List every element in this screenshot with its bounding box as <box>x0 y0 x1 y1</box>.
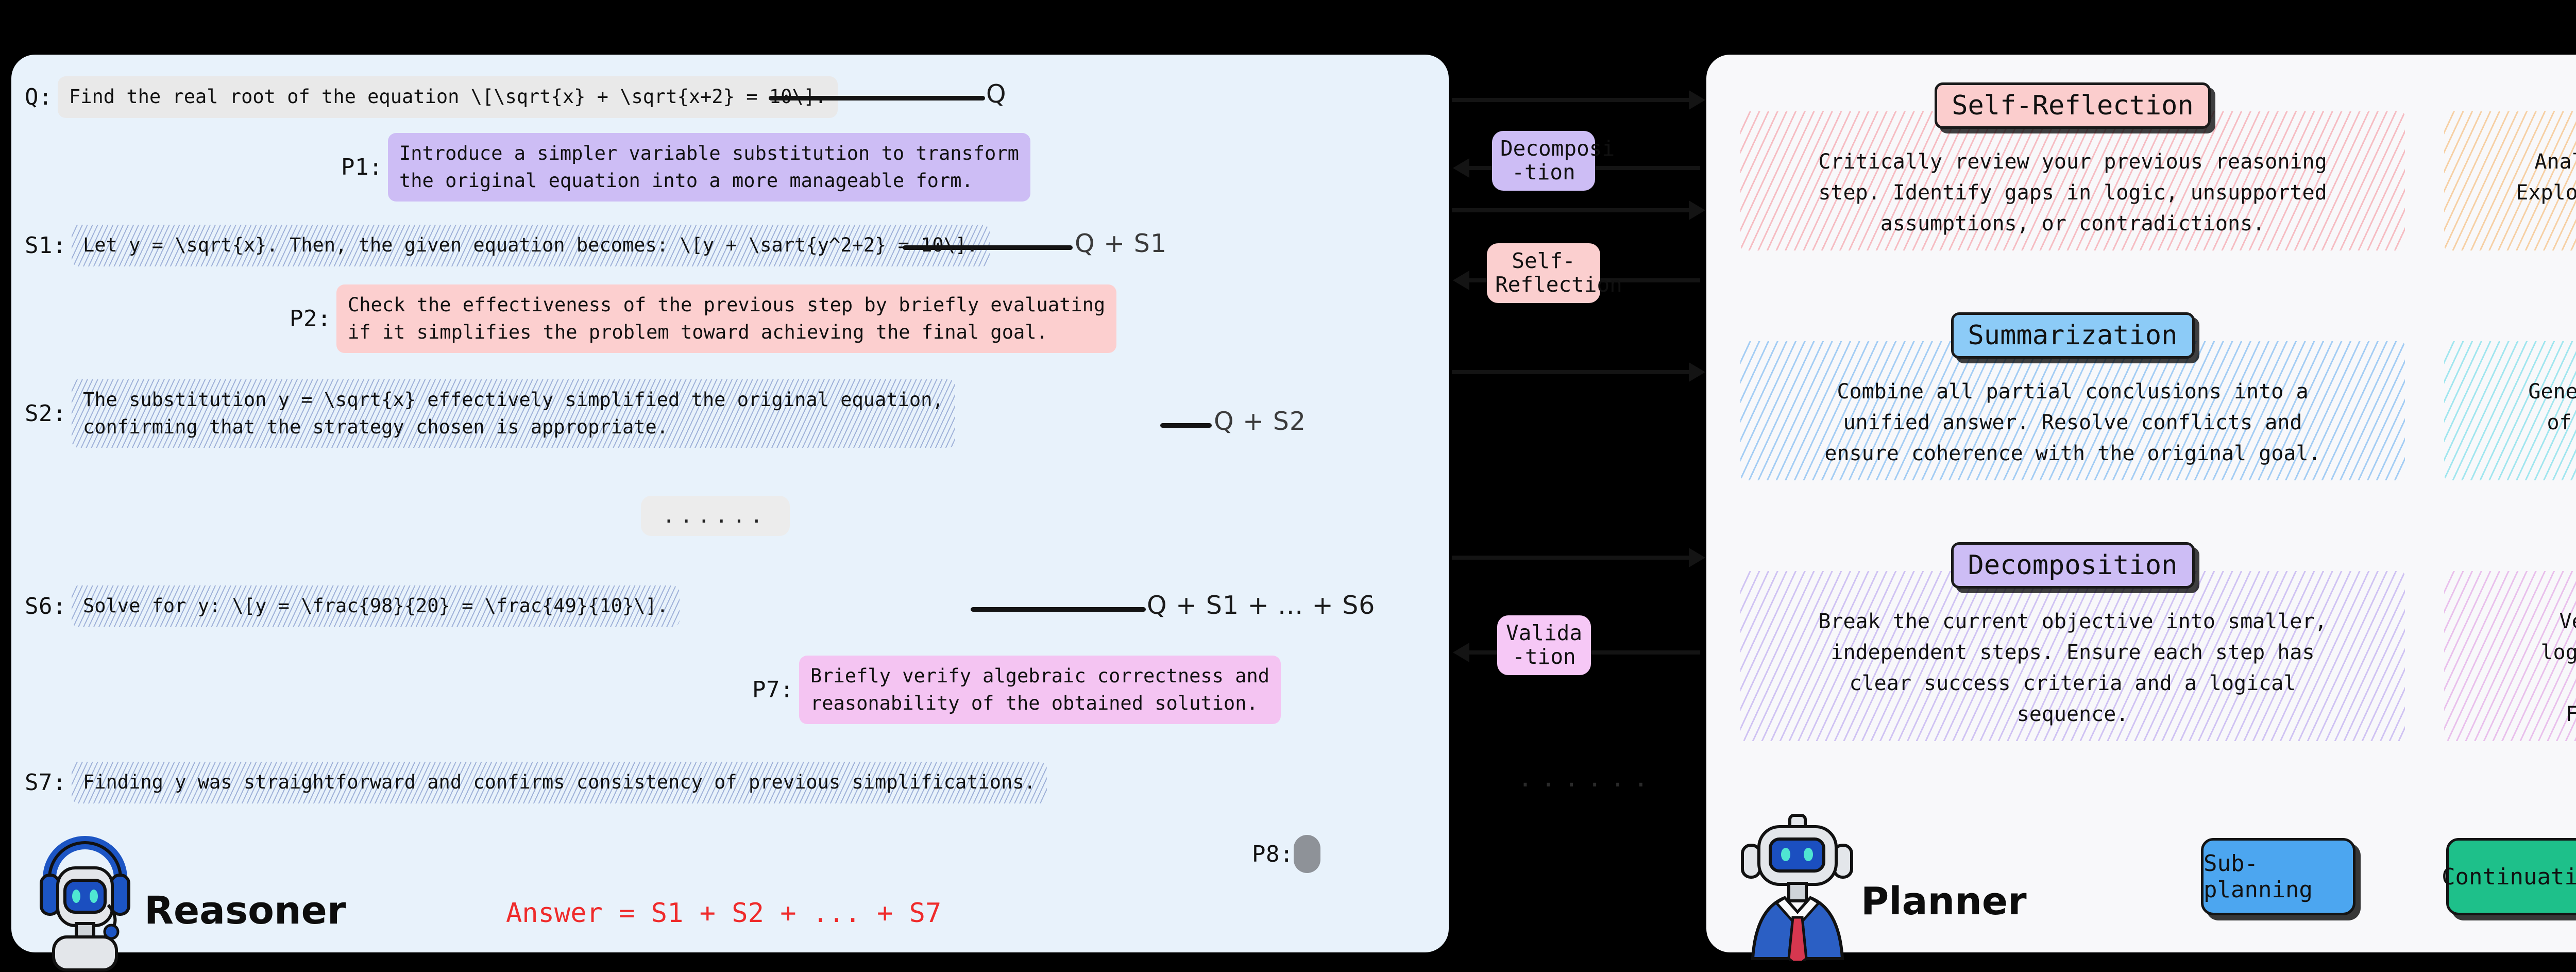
reasoner-step-q: Q: Find the real root of the equation \[… <box>25 76 838 118</box>
gutter-chip-decomposition: Decomposi -tion <box>1492 131 1595 191</box>
planner-agent-label: Planner <box>1861 879 2027 924</box>
step-tag-s7: S7: <box>25 769 66 796</box>
edge-line-s1 <box>903 245 1073 250</box>
reasoner-agent-label: Reasoner <box>144 889 346 933</box>
step-tag-p2: P2: <box>290 306 331 332</box>
step-text-s2: The substitution y = \sqrt{x} effectivel… <box>72 379 955 448</box>
action-button-sub-planning[interactable]: Sub-planning <box>2201 838 2355 915</box>
edge-label-s6: Q + S1 + ... + S6 <box>1147 591 1375 620</box>
planner-card-validation[interactable]: Validation Verify the current solution a… <box>2444 542 2576 741</box>
card-title-self-reflection: Self-Reflection <box>1935 82 2211 129</box>
step-text-q: Find the real root of the equation \[\sq… <box>58 76 838 118</box>
reasoner-answer-line: Answer = S1 + S2 + ... + S7 <box>506 898 941 929</box>
step-text-p7: Briefly verify algebraic correctness and… <box>799 656 1281 724</box>
arrow-s6-to-planner <box>1452 556 1690 560</box>
card-desc-priority: Generate the next step based on the rank… <box>2444 359 2576 480</box>
step-tag-s1: S1: <box>25 232 66 259</box>
reasoner-step-s1: S1: Let y = \sqrt{x}. Then, the given eq… <box>25 225 990 266</box>
edge-line-q <box>769 96 985 100</box>
planner-card-decomposition[interactable]: Decomposition Break the current objectiv… <box>1740 542 2405 741</box>
step-tag-p7: P7: <box>752 677 794 703</box>
card-title-decomposition: Decomposition <box>1951 542 2195 589</box>
reasoner-step-p2: P2: Check the effectiveness of the previ… <box>290 284 1116 353</box>
planner-card-self-reflection[interactable]: Self-Reflection Critically review your p… <box>1740 82 2405 250</box>
arrow-qs1-to-planner <box>1452 208 1690 212</box>
step-text-p1: Introduce a simpler variable substitutio… <box>388 133 1030 202</box>
planner-panel: Self-Reflection Critically review your p… <box>1706 55 2576 952</box>
step-tag-q: Q: <box>25 84 53 110</box>
edge-label-s1: Q + S1 <box>1075 229 1167 258</box>
step-tag-s6: S6: <box>25 593 66 619</box>
step-text-p2: Check the effectiveness of the previous … <box>336 284 1116 353</box>
reasoner-ellipsis: ...... <box>641 496 790 536</box>
edge-label-q: Q <box>986 79 1007 109</box>
action-button-continuation[interactable]: Continuation <box>2446 838 2576 915</box>
gutter-chip-validation: Valida -tion <box>1497 615 1591 675</box>
robot-suit-icon <box>1738 811 1857 961</box>
reasoner-step-p7: P7: Briefly verify algebraic correctness… <box>752 656 1281 724</box>
reasoner-step-s2: S2: The substitution y = \sqrt{x} effect… <box>25 379 955 448</box>
step-text-s6: Solve for y: \[y = \frac{98}{20} = \frac… <box>72 585 680 627</box>
robot-headset-icon <box>31 817 139 972</box>
step-tag-p8: P8: <box>1252 841 1294 867</box>
planner-card-summarization[interactable]: Summarization Combine all partial conclu… <box>1740 312 2405 480</box>
planner-card-deep-thinking[interactable]: Deep Thinking Analyze the current subtas… <box>2444 82 2576 250</box>
edge-line-s2 <box>1160 423 1212 428</box>
arrow-q-to-planner <box>1452 98 1690 102</box>
card-desc-summarization: Combine all partial conclusions into a u… <box>1740 359 2405 480</box>
step-text-s7: Finding y was straightforward and confir… <box>72 762 1047 803</box>
reasoner-step-s7: S7: Finding y was straightforward and co… <box>25 762 1047 803</box>
planner-card-priority[interactable]: Priority Generate the next step based on… <box>2444 312 2576 480</box>
reasoner-panel: Q: Find the real root of the equation \[… <box>11 55 1449 952</box>
edge-label-s2: Q + S2 <box>1214 407 1306 436</box>
gutter-chip-self-reflection: Self- Reflection <box>1487 243 1600 303</box>
reasoner-step-p1: P1: Introduce a simpler variable substit… <box>341 133 1030 202</box>
card-title-summarization: Summarization <box>1951 312 2195 359</box>
reasoner-step-p8: P8: <box>1252 835 1320 873</box>
card-desc-self-reflection: Critically review your previous reasonin… <box>1740 129 2405 250</box>
reasoner-step-s6: S6: Solve for y: \[y = \frac{98}{20} = \… <box>25 585 680 627</box>
step-tag-s2: S2: <box>25 400 66 427</box>
card-desc-validation: Verify the current solution against logi… <box>2444 589 2576 741</box>
card-desc-decomposition: Break the current objective into smaller… <box>1740 589 2405 741</box>
arrow-qs2-to-planner <box>1452 370 1690 374</box>
step-tag-p1: P1: <box>341 154 383 180</box>
edge-line-s6 <box>971 607 1146 612</box>
step-text-s1: Let y = \sqrt{x}. Then, the given equati… <box>72 225 990 266</box>
step-pending-indicator <box>1294 835 1320 873</box>
card-desc-deep-thinking: Analyze the current subtask rigorously. … <box>2444 129 2576 250</box>
gutter-ellipsis: ...... <box>1518 764 1656 793</box>
